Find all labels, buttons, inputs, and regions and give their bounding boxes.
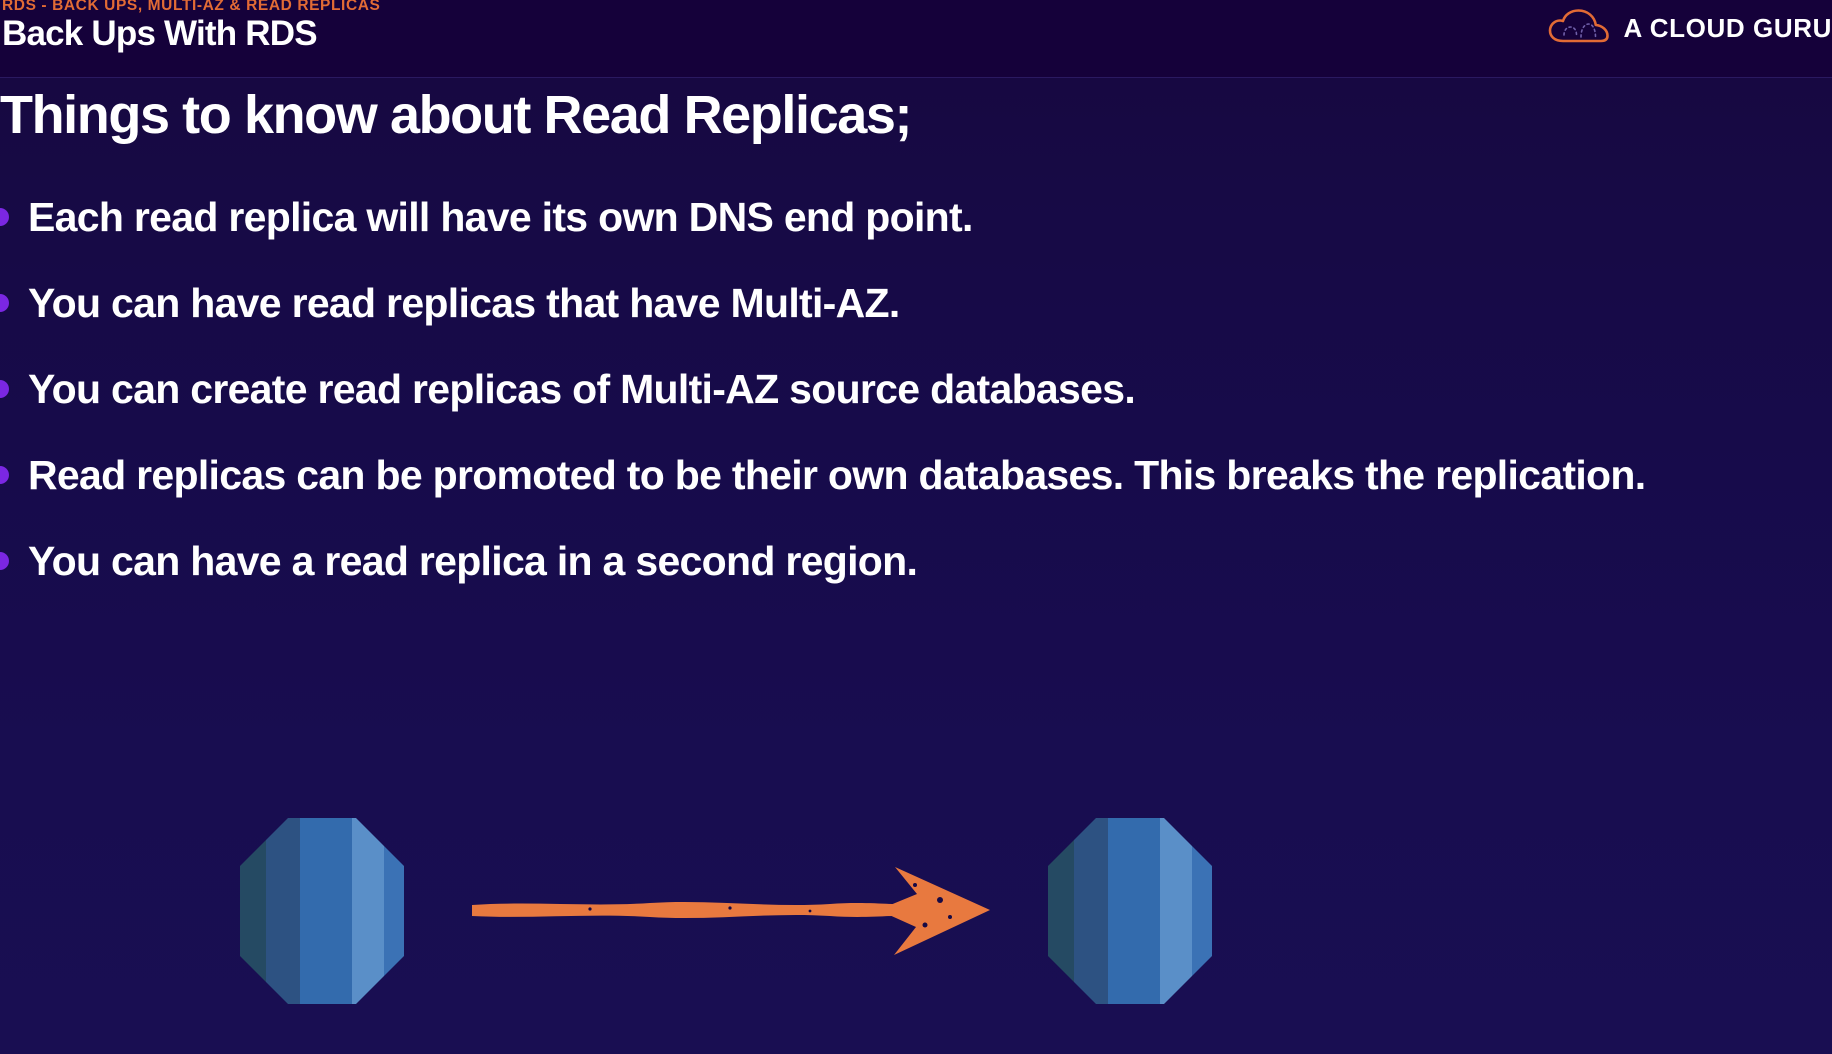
slide-header: RDS - BACK UPS, MULTI-AZ & READ REPLICAS…	[0, 0, 1832, 78]
brand-name: A CLOUD GURU	[1624, 13, 1832, 44]
sketch-arrow-right-icon	[470, 855, 990, 965]
bullet-dot-icon	[0, 466, 9, 484]
slide: RDS - BACK UPS, MULTI-AZ & READ REPLICAS…	[0, 0, 1832, 1054]
bullet-dot-icon	[0, 208, 9, 226]
list-item-label: Read replicas can be promoted to be thei…	[28, 444, 1832, 508]
aws-rds-database-icon-replica	[1048, 818, 1212, 1004]
list-item: You can have read replicas that have Mul…	[0, 272, 1832, 336]
list-item-label: You can create read replicas of Multi-AZ…	[28, 358, 1832, 422]
cloud-outline-icon	[1548, 8, 1610, 48]
deck-title: Back Ups With RDS	[2, 14, 317, 54]
bullet-dot-icon	[0, 552, 9, 570]
page-title: Things to know about Read Replicas;	[0, 84, 911, 146]
list-item: You can create read replicas of Multi-AZ…	[0, 358, 1832, 422]
list-item-label: You can have read replicas that have Mul…	[28, 272, 1832, 336]
bullet-dot-icon	[0, 294, 9, 312]
course-section-eyebrow: RDS - BACK UPS, MULTI-AZ & READ REPLICAS	[2, 0, 381, 15]
list-item-label: You can have a read replica in a second …	[28, 530, 1832, 594]
list-item-label: Each read replica will have its own DNS …	[28, 186, 1832, 250]
aws-rds-database-icon-source	[240, 818, 404, 1004]
list-item: You can have a read replica in a second …	[0, 530, 1832, 594]
brand-logo: A CLOUD GURU	[1548, 6, 1832, 50]
read-replica-facts-list: Each read replica will have its own DNS …	[0, 186, 1832, 616]
list-item: Read replicas can be promoted to be thei…	[0, 444, 1832, 508]
list-item: Each read replica will have its own DNS …	[0, 186, 1832, 250]
bullet-dot-icon	[0, 380, 9, 398]
replication-diagram	[0, 790, 1832, 1040]
